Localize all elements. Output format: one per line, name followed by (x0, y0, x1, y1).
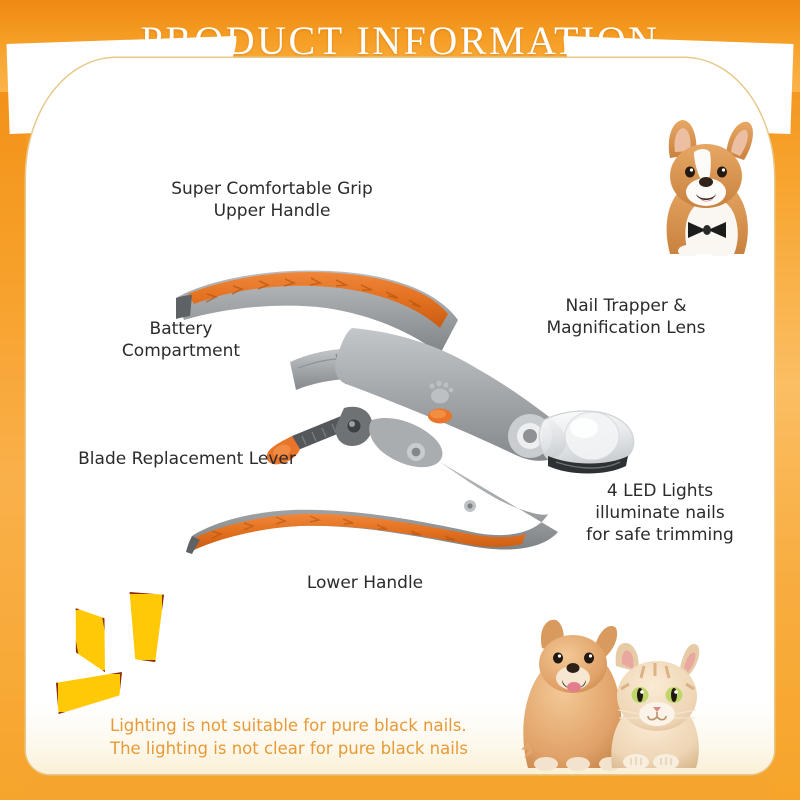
lower-handle-part (186, 462, 558, 554)
frame-right-band (772, 0, 800, 800)
ginger-tabby-cat (611, 643, 699, 770)
photo-pomeranian-and-cat (516, 592, 758, 774)
photo-corgi-with-bowtie (648, 104, 774, 256)
label-battery-compartment: Battery Compartment (96, 318, 266, 362)
frame-left-band (0, 0, 26, 800)
label-nail-trapper: Nail Trapper & Magnification Lens (516, 295, 736, 339)
nail-trapper-lens-part (539, 411, 633, 474)
pomeranian-dog (521, 620, 624, 771)
warning-text: Lighting is not suitable for pure black … (110, 714, 580, 760)
page-title: PRODUCT INFORMATION (0, 17, 800, 64)
label-blade-replacement-lever: Blade Replacement Lever (62, 448, 312, 470)
label-upper-handle: Super Comfortable Grip Upper Handle (152, 178, 392, 222)
product-information-page: PRODUCT INFORMATION (0, 0, 800, 800)
label-led-lights: 4 LED Lights illuminate nails for safe t… (560, 480, 760, 546)
power-button (428, 409, 452, 424)
label-lower-handle: Lower Handle (280, 572, 450, 594)
